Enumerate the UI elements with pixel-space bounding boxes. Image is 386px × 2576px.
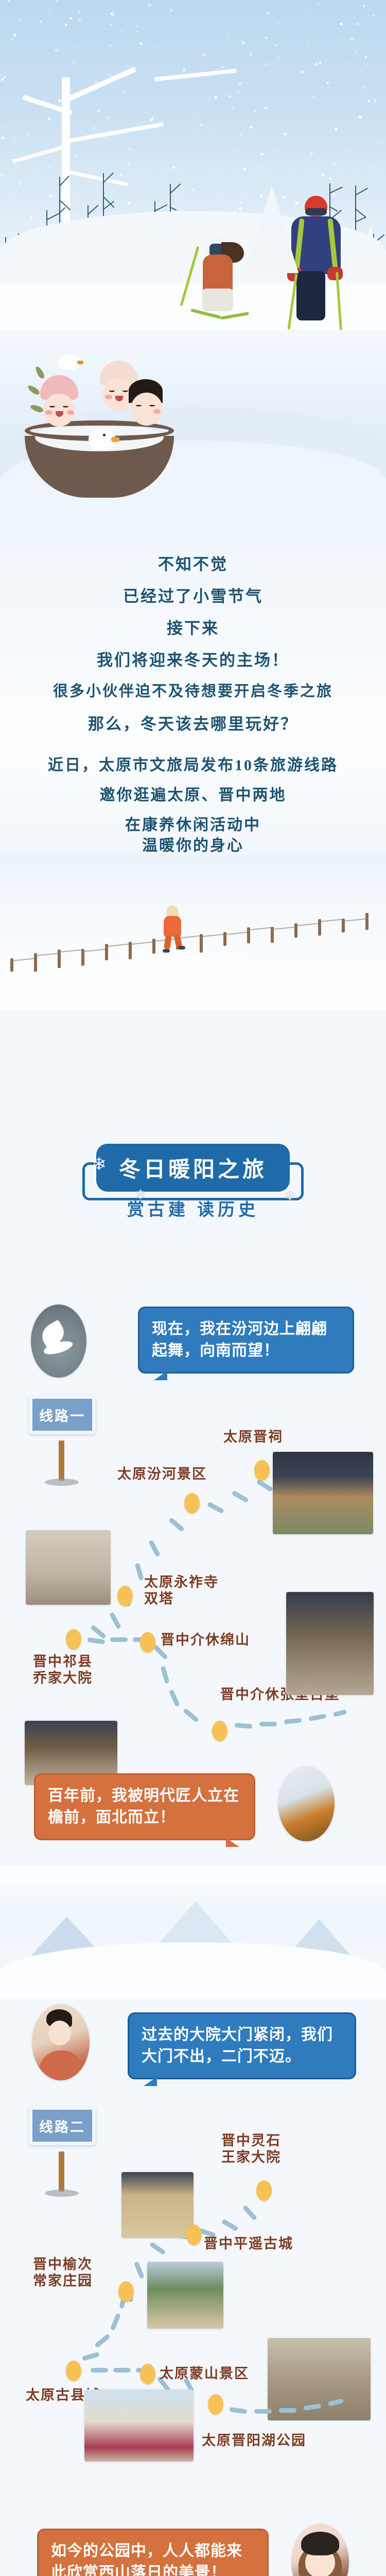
route-stop-marker[interactable]: [186, 2225, 202, 2245]
snow-flake: [312, 95, 314, 97]
snow-flake: [333, 194, 336, 196]
dragon-eave-avatar: [278, 1766, 335, 1841]
ski-goggles: [305, 208, 327, 215]
route-stop-marker[interactable]: [184, 1493, 200, 1514]
route-dash: [232, 1490, 249, 1503]
snow-flake: [319, 62, 321, 64]
route-dash: [149, 2242, 166, 2255]
snow-flake: [209, 98, 210, 99]
banner-bracket: 冬日暖阳之旅 ❄ ❄ ❄ 赏古建 读历史: [0, 1144, 386, 1216]
snow-flake: [366, 64, 367, 65]
snow-flake: [319, 193, 320, 194]
poster-root: 不知不觉 已经过了小雪节气 接下来 我们将迎来冬天的主场！ 很多小伙伴迫不及待想…: [0, 0, 386, 2576]
duck-beak: [111, 437, 119, 442]
snow-flake: [227, 34, 229, 36]
snow-flake: [224, 42, 225, 43]
route-dash: [161, 1666, 170, 1684]
snow-flake: [338, 39, 339, 40]
snow-flake: [351, 47, 353, 49]
route-stop-marker[interactable]: [256, 2180, 272, 2201]
ancient-lady-avatar: [32, 2004, 90, 2080]
snow-flake: [111, 84, 113, 86]
snow-flake: [181, 85, 182, 87]
snow-flake: [378, 141, 380, 143]
snow-flake: [78, 10, 80, 13]
snow-flake: [8, 0, 10, 2]
child-cheek: [153, 409, 161, 414]
poem-line: 我们将迎来冬天的主场！: [0, 647, 386, 670]
route-stop-label: 晋中祁县 乔家大院: [33, 1654, 93, 1687]
snow-flake: [183, 69, 186, 72]
snow-flake: [15, 140, 16, 142]
snow-flake: [108, 9, 109, 10]
snow-flake: [10, 199, 11, 201]
snow-flake: [192, 130, 193, 131]
speech-bubble-eave: 百年前，我被明代匠人立在檐前，面北而立！: [34, 1773, 255, 1840]
snow-flake: [258, 166, 260, 168]
snow-flake: [374, 99, 377, 102]
snow-flake: [157, 47, 159, 48]
route-1-sign-label: 线路一: [29, 1395, 96, 1434]
poem-line: 已经过了小雪节气: [0, 583, 386, 606]
snow-flake: [242, 121, 243, 122]
snow-flake: [0, 0, 1, 1]
fence-wire: [83, 948, 107, 952]
route-dash: [259, 1722, 277, 1726]
tree-branch: [154, 69, 237, 81]
snow-flake: [275, 44, 277, 46]
snow-flake: [265, 37, 268, 39]
leaf-decoration: [29, 403, 44, 413]
tree-branch: [329, 187, 343, 194]
snow-flake: [76, 213, 78, 215]
snow-flake: [245, 128, 246, 129]
route-dash: [110, 1637, 128, 1642]
child-eye: [63, 405, 68, 408]
route-stop-marker[interactable]: [140, 2364, 155, 2384]
route-dash: [169, 1689, 180, 1707]
snow-flake: [11, 39, 13, 41]
child-eye: [49, 405, 55, 408]
route-dash: [279, 2408, 296, 2413]
hero-winter-illustration: [0, 0, 386, 330]
snow-flake: [285, 174, 286, 175]
route-stop-marker[interactable]: [208, 2394, 223, 2415]
snow-flake: [28, 134, 30, 137]
snow-mountain-band: [0, 1865, 386, 1999]
kids-hot-tub-illustration: [0, 330, 386, 536]
snow-flake: [365, 56, 367, 58]
intro-body-line: 近日，太原市文旅局发布10条旅游线路: [0, 752, 386, 775]
speech-bubble-lady: 过去的大院大门紧闭，我们大门不出，二门不迈。: [128, 2012, 356, 2079]
tree-branch: [355, 217, 366, 223]
route-dash: [308, 1714, 326, 1721]
snow-flake: [345, 62, 346, 63]
snow-flake: [40, 21, 42, 23]
snow-flake: [77, 198, 79, 201]
attraction-photo-jinyang-lake: [84, 2389, 194, 2462]
tree-branch: [87, 205, 98, 215]
snow-flake: [150, 118, 153, 122]
snow-flake: [1, 78, 4, 81]
snow-flake: [153, 206, 154, 207]
ski-pants: [296, 271, 325, 320]
tree-branch: [12, 144, 67, 163]
snow-flake: [97, 110, 100, 112]
snow-flake: [250, 126, 253, 129]
route-stop-label: 晋中榆次 常家庄园: [33, 2257, 93, 2290]
snowy-path-illustration: [0, 855, 386, 1010]
attraction-photo-twin-pagoda: [26, 1530, 111, 1605]
snow-flake: [220, 181, 221, 182]
snow-flake: [239, 82, 242, 85]
route-1-map: 线路一 太原晋祠 太原汾河景区 太原永祚寺 双塔: [0, 1391, 386, 1747]
snow-flake: [124, 91, 126, 93]
snow-flake: [92, 127, 95, 129]
fence-wire: [320, 919, 344, 922]
walking-person-shoe: [163, 949, 170, 953]
snow-flake: [359, 173, 360, 174]
snow-flake: [176, 192, 178, 194]
snow-flake: [356, 23, 359, 25]
leaf-decoration: [34, 365, 46, 380]
snow-flake: [330, 178, 332, 180]
snow-flake: [215, 14, 216, 15]
signpost-base: [45, 2190, 79, 2197]
snow-flake: [58, 99, 61, 102]
snow-flake: [240, 202, 241, 204]
snow-flake: [265, 63, 268, 65]
snow-flake: [168, 208, 169, 209]
tree-branch: [66, 122, 164, 143]
snow-flake: [173, 101, 174, 102]
signpost-base: [45, 1479, 79, 1486]
skier-jacket: [203, 255, 233, 293]
snow-flake: [120, 174, 122, 176]
snow-flake: [56, 180, 58, 182]
snow-flake: [329, 174, 331, 175]
intro-text-block: 不知不觉 已经过了小雪节气 接下来 我们将迎来冬天的主场！ 很多小伙伴迫不及待想…: [0, 536, 386, 855]
skier-pants: [202, 289, 233, 311]
route-2-sign-label: 线路二: [29, 2106, 96, 2145]
snow-flake: [314, 187, 316, 189]
fence-wire: [272, 926, 296, 930]
fence-wire: [343, 918, 367, 922]
snow-rock-peak: [245, 185, 299, 273]
route-dash: [183, 1708, 199, 1723]
snow-flake: [349, 87, 350, 88]
snow-flake: [220, 196, 221, 197]
snow-flake: [366, 199, 367, 201]
snow-flake: [327, 82, 329, 84]
route-stop-label: 太原蒙山景区: [160, 2366, 249, 2382]
snow-flake: [65, 24, 67, 26]
snow-flake: [314, 63, 318, 66]
snow-flake: [110, 45, 111, 46]
poem-line: 接下来: [0, 615, 386, 638]
snow-flake: [108, 117, 109, 118]
snow-flake: [19, 20, 21, 21]
fence-wire: [178, 935, 202, 939]
snow-flake: [342, 210, 344, 212]
snow-flake: [340, 30, 341, 32]
snow-flake: [31, 161, 32, 162]
snow-flake: [261, 152, 264, 155]
snow-flake: [351, 121, 352, 122]
route-dash: [94, 2333, 111, 2348]
snow-flake: [114, 17, 115, 18]
snow-flake: [363, 87, 364, 89]
intro-body-line: 温暖你的身心: [0, 833, 386, 855]
snow-flake: [110, 12, 113, 15]
snow-flake: [2, 137, 4, 139]
route-stop-label: 太原汾河景区: [117, 1466, 207, 1483]
snow-flake: [39, 220, 41, 222]
tree-branch: [329, 206, 338, 211]
snow-flake: [133, 48, 134, 49]
walking-person-shoe: [178, 946, 185, 950]
snow-flake: [139, 42, 142, 45]
route-dash: [254, 2409, 272, 2414]
snow-flake: [351, 39, 353, 41]
snow-flake: [356, 52, 357, 53]
snow-flake: [241, 197, 242, 198]
snow-flake: [368, 100, 370, 102]
snow-flake: [242, 41, 245, 44]
snow-flake: [79, 19, 81, 21]
duck-eye: [103, 434, 106, 436]
snow-flake: [234, 150, 236, 151]
snow-flake: [372, 78, 373, 79]
poem-line: 不知不觉: [0, 551, 386, 574]
fence-wire: [249, 927, 273, 930]
snow-flake: [113, 57, 114, 58]
snow-flake: [307, 13, 308, 14]
snow-flake: [238, 92, 239, 93]
snow-flake: [370, 59, 372, 60]
route-dash: [242, 2205, 257, 2221]
snow-flake: [156, 168, 158, 170]
route-stop-marker[interactable]: [212, 1721, 227, 1741]
route-dash: [148, 1539, 161, 1557]
snow-flake: [127, 163, 129, 165]
attraction-photo-pingyao-wall: [121, 2172, 194, 2238]
walking-person-coat: [164, 915, 181, 937]
poem-line: 很多小伙伴迫不及待想要开启冬季之旅: [0, 679, 386, 701]
route-dash: [221, 2219, 239, 2232]
snow-flake: [138, 190, 139, 191]
route-stop-marker[interactable]: [140, 1632, 155, 1653]
snow-flake: [10, 223, 12, 225]
snow-flake: [243, 168, 246, 171]
tree-branch: [64, 66, 136, 103]
attraction-photo-jinci: [273, 1452, 373, 1534]
route-stop-label: 晋中平遥古城: [204, 2236, 293, 2252]
route-dash: [235, 1723, 253, 1728]
fence-wire: [130, 941, 154, 945]
snow-flake: [15, 164, 16, 165]
snow-flake: [236, 7, 237, 8]
snow-flake: [333, 163, 336, 165]
snow-flake: [4, 76, 6, 78]
route-stop-label: 太原永祚寺 双塔: [144, 1574, 219, 1607]
snow-flake: [103, 72, 104, 73]
speech-bubble-egret: 现在，我在汾河边上翩翩起舞，向南而望！: [138, 1307, 354, 1374]
route-stop-label: 晋中介休绵山: [161, 1632, 250, 1649]
intro-body-line: 邀你逛遍太原、晋中两地: [0, 782, 386, 805]
snow-flake: [374, 165, 376, 166]
snow-flake: [284, 133, 287, 135]
snow-flake: [279, 150, 280, 151]
snow-flake: [345, 151, 348, 154]
route-dash: [207, 1502, 224, 1514]
route-dash: [135, 1563, 144, 1581]
child-eye: [136, 404, 142, 406]
snow-ground: [0, 1942, 386, 1999]
route-dash: [113, 2368, 131, 2372]
snow-flake: [214, 96, 217, 99]
snow-flake: [358, 64, 359, 65]
snow-flake: [307, 103, 308, 104]
lady-robe: [39, 2050, 83, 2080]
route-stop-marker[interactable]: [254, 1460, 270, 1481]
snow-flake: [110, 75, 111, 76]
snow-flake: [136, 25, 138, 27]
snow-flake: [128, 202, 130, 205]
snow-flake: [52, 36, 54, 38]
snow-flake: [340, 23, 342, 25]
snow-flake: [224, 173, 225, 174]
route-dash: [256, 1479, 274, 1493]
route-dash: [91, 2368, 108, 2372]
snow-flake: [20, 183, 22, 185]
child-eye: [149, 404, 155, 406]
snow-flake: [129, 148, 131, 150]
snow-flake: [279, 42, 281, 44]
intro-body-line: 在康养休闲活动中: [0, 812, 386, 835]
snow-flake: [197, 141, 198, 142]
child-eye: [109, 389, 115, 392]
walking-person-leg: [164, 935, 172, 949]
route-dash: [90, 1624, 107, 1639]
attraction-photo-chang-garden: [147, 2262, 223, 2329]
leaf-decoration: [27, 384, 41, 396]
snow-flake: [126, 38, 127, 39]
route-dash: [284, 1718, 302, 1724]
walking-person-hat: [166, 906, 179, 916]
snow-flake: [5, 219, 7, 222]
snow-flake: [359, 115, 362, 118]
child-cheek: [105, 395, 112, 399]
route-stop-marker[interactable]: [66, 2361, 81, 2381]
snow-flake: [364, 140, 365, 141]
section-title: 冬日暖阳之旅: [96, 1144, 290, 1192]
route-dash: [168, 1517, 185, 1532]
snow-flake: [55, 49, 57, 52]
snow-flake: [277, 56, 279, 58]
tree-branch: [46, 213, 60, 220]
snow-flake: [1, 175, 3, 177]
girl-beret: [301, 2532, 339, 2555]
attraction-photo-zhangbi: [286, 1592, 374, 1695]
child-cheek: [67, 410, 74, 415]
snow-flake: [49, 195, 52, 198]
snow-flake: [335, 128, 338, 131]
snow-flake: [306, 42, 308, 44]
poem-line: 那么，冬天该去哪里玩好？: [0, 711, 386, 734]
snow-flake: [191, 188, 194, 191]
snow-flake: [265, 107, 267, 109]
snow-flake: [349, 189, 351, 190]
snow-flake: [321, 14, 322, 15]
snow-flake: [48, 117, 51, 120]
snow-flake: [301, 71, 304, 73]
snow-flake: [373, 15, 374, 16]
snow-flake: [382, 39, 383, 40]
route-stop-label: 晋中灵石 王家大院: [221, 2133, 281, 2166]
snow-flake: [6, 179, 7, 180]
signpost-pole: [59, 2151, 64, 2192]
route-stop-marker[interactable]: [117, 1586, 133, 1606]
snow-flake: [221, 66, 224, 69]
snow-flake: [15, 189, 16, 191]
tree-branch: [67, 170, 129, 187]
snow-flake: [10, 100, 11, 101]
snow-flake: [127, 65, 129, 67]
route-stop-marker[interactable]: [66, 1629, 81, 1650]
snow-flake: [172, 166, 175, 169]
snow-flake: [120, 30, 122, 32]
snow-flake: [281, 70, 282, 71]
snow-flake: [232, 106, 234, 109]
snow-flake: [79, 45, 80, 47]
snow-flake: [254, 110, 256, 112]
section-subtitle: 赏古建 读历史: [0, 1196, 386, 1221]
speech-bubble-park: 如今的公园中，人人都能来此欣赏西山落日的美景！: [37, 2529, 269, 2576]
fence-wire: [296, 923, 320, 926]
snow-flake: [241, 41, 242, 42]
snow-flake: [310, 152, 313, 155]
snow-flake: [72, 61, 74, 63]
route-dash: [333, 1709, 347, 1717]
snow-flake: [250, 54, 252, 56]
snow-flake: [149, 45, 150, 46]
snow-flake: [156, 129, 157, 130]
fence-wire: [59, 949, 83, 953]
snow-flake: [240, 133, 242, 136]
snow-flake: [89, 180, 91, 182]
snow-flake: [279, 22, 280, 23]
route-dash: [110, 2313, 121, 2331]
snow-flake: [213, 133, 214, 134]
fence-wire: [225, 931, 249, 935]
lady-face: [48, 2021, 71, 2045]
snow-flake: [148, 49, 149, 50]
snow-flake: [229, 95, 231, 97]
snow-flake: [155, 207, 157, 208]
snow-flake: [30, 216, 32, 218]
snow-flake: [13, 33, 16, 37]
bird-beak: [77, 361, 83, 364]
snow-flake: [170, 9, 172, 12]
tree-branch: [355, 188, 368, 196]
snow-flake: [2, 125, 3, 127]
snow-flake: [58, 49, 59, 50]
snow-flake: [362, 105, 363, 106]
route-dash: [82, 2352, 100, 2361]
route-stop-marker[interactable]: [118, 2281, 134, 2302]
snow-flake: [239, 207, 241, 210]
